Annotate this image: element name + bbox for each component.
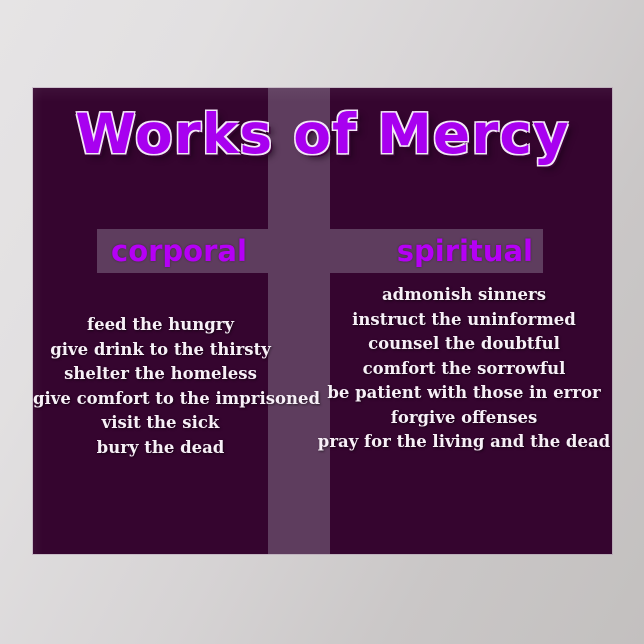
spiritual-works-list: admonish sinners instruct the uninformed… [316, 283, 612, 455]
list-item: comfort the sorrowful [316, 357, 612, 382]
list-item: counsel the doubtful [316, 332, 612, 357]
list-item: admonish sinners [316, 283, 612, 308]
list-item: give comfort to the imprisoned [33, 387, 288, 412]
list-item: pray for the living and the dead [316, 430, 612, 455]
list-item: shelter the homeless [33, 362, 288, 387]
corporal-works-list: feed the hungry give drink to the thirst… [33, 313, 288, 460]
list-item: forgive offenses [316, 406, 612, 431]
list-item: instruct the uninformed [316, 308, 612, 333]
list-item: feed the hungry [33, 313, 288, 338]
works-of-mercy-poster: Works of Mercy corporal spiritual feed t… [33, 88, 612, 554]
list-item: be patient with those in error [316, 381, 612, 406]
poster-preview-canvas: Works of Mercy corporal spiritual feed t… [0, 0, 644, 644]
list-item: give drink to the thirsty [33, 338, 288, 363]
list-item: visit the sick [33, 411, 288, 436]
section-heading-spiritual: spiritual [270, 234, 543, 268]
list-item: bury the dead [33, 436, 288, 461]
poster-title: Works of Mercy [33, 104, 612, 164]
